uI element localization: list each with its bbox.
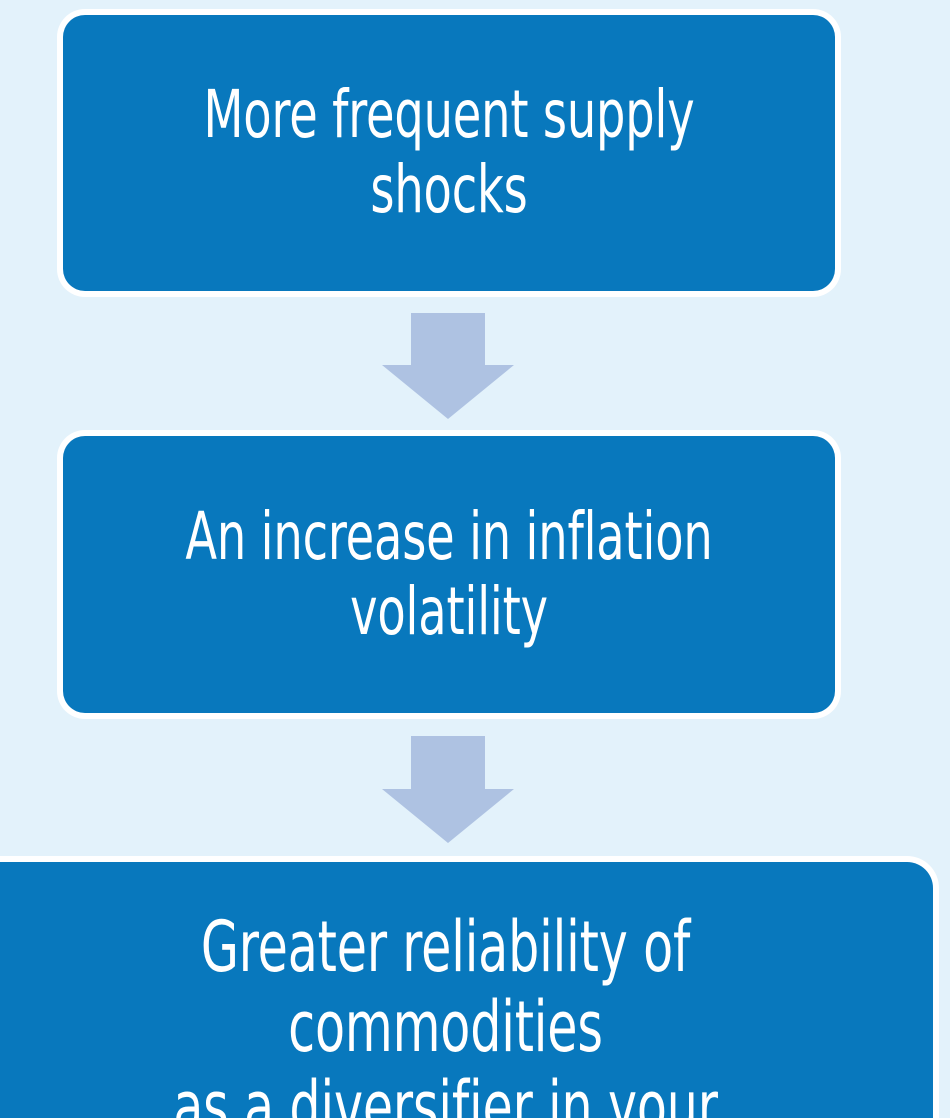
flow-step-supply-shocks: More frequent supply shocks bbox=[63, 15, 835, 291]
flow-step-inflation-volatility: An increase in inflation volatility bbox=[63, 436, 835, 713]
flow-step-label: Greater reliability of commodities as a … bbox=[65, 908, 826, 1118]
flow-step-label: An increase in inflation volatility bbox=[148, 500, 750, 649]
down-arrow-icon bbox=[382, 313, 514, 419]
down-arrow-icon bbox=[382, 736, 514, 843]
flow-step-commodities-diversifier: Greater reliability of commodities as a … bbox=[0, 862, 933, 1118]
flow-step-label: More frequent supply shocks bbox=[148, 78, 750, 227]
flow-diagram: More frequent supply shocks An increase … bbox=[0, 0, 950, 1118]
